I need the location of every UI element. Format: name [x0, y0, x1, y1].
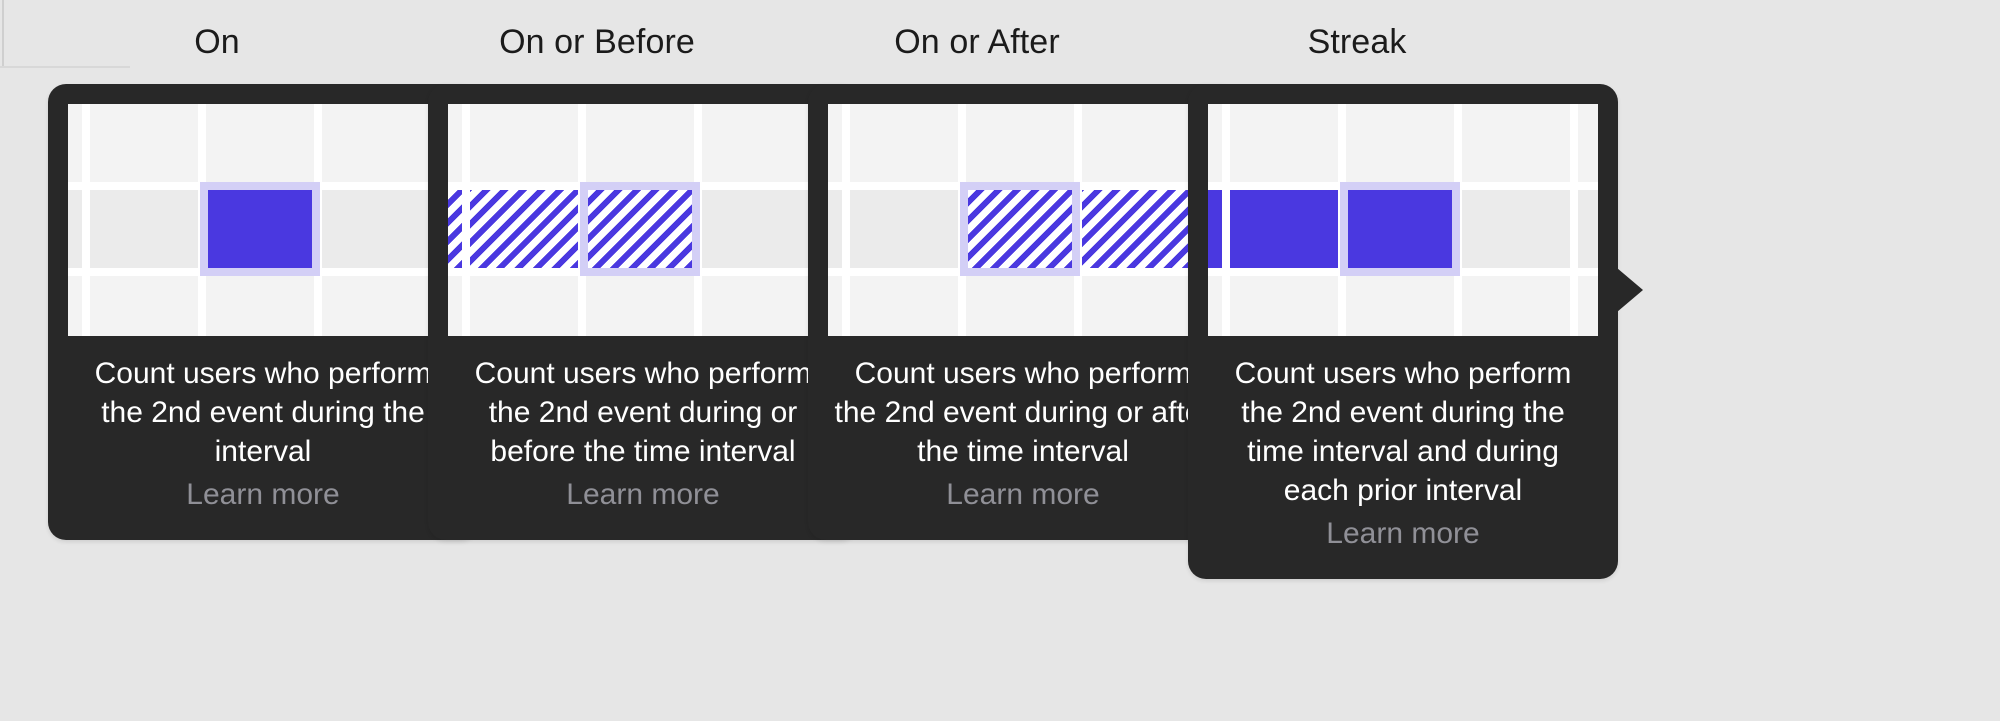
grid-cell	[1230, 104, 1338, 182]
grid-cell	[850, 276, 958, 336]
column-on-or-before: On or Before	[382, 0, 812, 721]
comparison-board: On	[0, 0, 2000, 721]
grid-cell	[470, 104, 578, 182]
learn-more-link-streak[interactable]: Learn more	[1208, 514, 1598, 553]
event-fill-hatch	[448, 190, 462, 268]
grid-cell	[966, 104, 1074, 182]
grid-cell	[586, 104, 694, 182]
grid-cell	[448, 276, 462, 336]
diagram-streak	[1208, 104, 1598, 336]
grid-cell	[68, 276, 82, 336]
grid-cell	[828, 276, 842, 336]
grid-cell	[586, 276, 694, 336]
grid-cell	[1578, 190, 1598, 268]
grid-cell	[448, 104, 462, 182]
event-fill-hatch	[470, 190, 578, 268]
column-title-on-or-after: On or After	[762, 22, 1192, 62]
column-on-or-after: On or After	[762, 0, 1192, 721]
column-on: On	[2, 0, 432, 721]
event-fill-solid	[208, 190, 312, 268]
grid-cell	[206, 276, 314, 336]
event-fill-hatch	[968, 190, 1072, 268]
grid-cell	[68, 190, 82, 268]
column-streak: Streak	[1142, 0, 1572, 721]
grid-cell	[1462, 276, 1570, 336]
grid-cell	[828, 104, 842, 182]
grid-cell	[1462, 104, 1570, 182]
grid-cell	[1578, 104, 1598, 182]
grid-cell	[850, 190, 958, 268]
grid-cell	[90, 104, 198, 182]
event-fill-solid	[1348, 190, 1452, 268]
grid-cell	[1208, 276, 1222, 336]
grid-cell	[1208, 104, 1222, 182]
card-streak[interactable]: Count users who perform the 2nd event du…	[1188, 84, 1618, 579]
column-title-streak: Streak	[1142, 22, 1572, 62]
grid-cell	[828, 190, 842, 268]
event-fill-hatch	[588, 190, 692, 268]
grid-cell	[90, 276, 198, 336]
event-fill-solid	[1230, 190, 1338, 268]
grid-cell	[1346, 104, 1454, 182]
grid-cell	[1346, 276, 1454, 336]
grid-cell	[68, 104, 82, 182]
grid-cell	[470, 276, 578, 336]
card-description-streak: Count users who perform the 2nd event du…	[1208, 354, 1598, 510]
card-tail-icon	[1617, 268, 1643, 312]
column-title-on-or-before: On or Before	[382, 22, 812, 62]
grid-cell	[1462, 190, 1570, 268]
grid-cell	[1578, 276, 1598, 336]
event-fill-solid	[1208, 190, 1222, 268]
grid-cell	[90, 190, 198, 268]
grid-cell	[966, 276, 1074, 336]
grid-cell	[206, 104, 314, 182]
column-title-on: On	[2, 22, 432, 62]
grid-cell	[1230, 276, 1338, 336]
grid-cell	[850, 104, 958, 182]
